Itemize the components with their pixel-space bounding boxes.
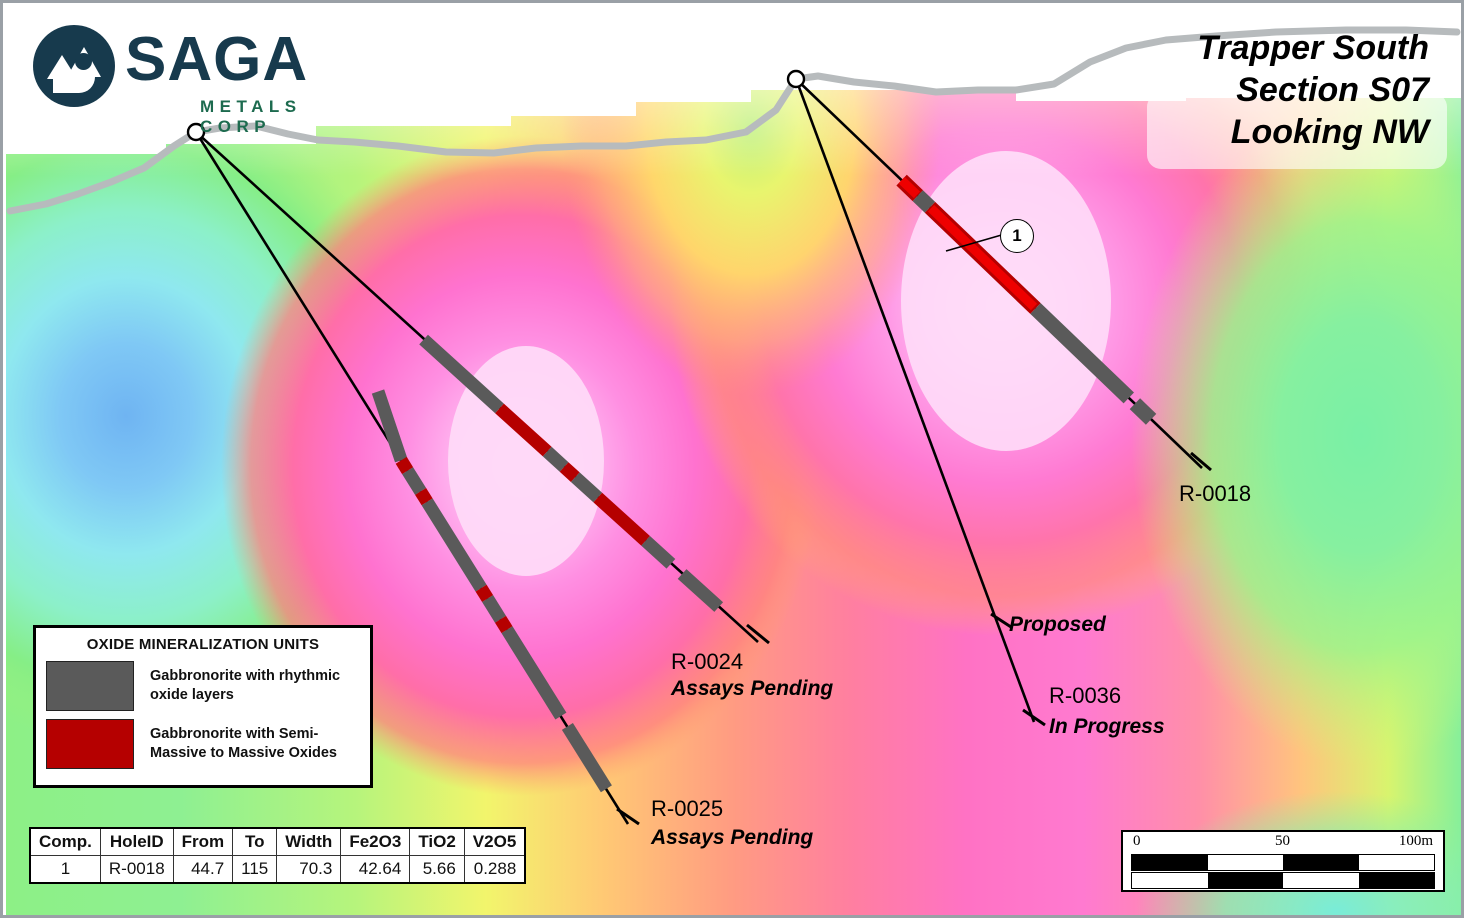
legend-heading: OXIDE MINERALIZATION UNITS bbox=[36, 628, 370, 659]
legend-label-massive: Gabbronorite with Semi-Massive to Massiv… bbox=[150, 725, 362, 763]
scale-bar-row-bottom bbox=[1131, 872, 1435, 889]
annotation-proposed: Proposed bbox=[1009, 613, 1106, 637]
table-header-fe2o3: Fe2O3 bbox=[341, 828, 410, 856]
table-header-row: Comp.HoleIDFromToWidthFe2O3TiO2V2O5 bbox=[30, 828, 525, 856]
collar-east bbox=[788, 71, 804, 87]
scale-tick-0: 0 bbox=[1133, 833, 1141, 850]
table-cell: 5.66 bbox=[410, 856, 464, 884]
title-line-1: Trapper South bbox=[1099, 27, 1429, 69]
table-cell: 42.64 bbox=[341, 856, 410, 884]
hole-label-R-0025: R-0025 bbox=[651, 796, 723, 822]
table-cell: 44.7 bbox=[173, 856, 233, 884]
title-line-2: Section S07 bbox=[1099, 69, 1429, 111]
hole-label-R-0018: R-0018 bbox=[1179, 481, 1251, 507]
hole-status-R-0036: In Progress bbox=[1049, 715, 1165, 739]
table-cell: R-0018 bbox=[100, 856, 173, 884]
table-body: 1R-001844.711570.342.645.660.288 bbox=[30, 856, 525, 884]
page-title: Trapper South Section S07 Looking NW bbox=[1099, 27, 1429, 153]
saga-mark-icon bbox=[33, 25, 115, 107]
company-name: SAGA bbox=[125, 29, 308, 91]
table-header-to: To bbox=[233, 828, 277, 856]
cross-section-figure: 1 SAGA METALS CORP Trapper South Section… bbox=[0, 0, 1464, 918]
scale-tick-50: 50 bbox=[1275, 833, 1290, 850]
table-cell: 1 bbox=[30, 856, 100, 884]
title-line-3: Looking NW bbox=[1099, 111, 1429, 153]
hole-label-R-0024: R-0024 bbox=[671, 649, 743, 675]
legend-item-massive: Gabbronorite with Semi-Massive to Massiv… bbox=[36, 717, 370, 775]
scale-bar-row-top bbox=[1131, 854, 1435, 871]
legend-label-rhythmic: Gabbronorite with rhythmic oxide layers bbox=[150, 667, 362, 705]
table-header-holeid: HoleID bbox=[100, 828, 173, 856]
assay-table: Comp.HoleIDFromToWidthFe2O3TiO2V2O5 1R-0… bbox=[29, 827, 526, 884]
scale-bar: 0 50 100m bbox=[1121, 830, 1445, 892]
table-cell: 115 bbox=[233, 856, 277, 884]
table-header-tio2: TiO2 bbox=[410, 828, 464, 856]
scale-bar-labels: 0 50 100m bbox=[1123, 832, 1443, 854]
hole-status-R-0024: Assays Pending bbox=[671, 677, 833, 701]
table-header-v2o5: V2O5 bbox=[464, 828, 525, 856]
table-cell: 0.288 bbox=[464, 856, 525, 884]
hole-label-R-0036: R-0036 bbox=[1049, 683, 1121, 709]
table-row: 1R-001844.711570.342.645.660.288 bbox=[30, 856, 525, 884]
legend-swatch-rhythmic bbox=[46, 661, 134, 711]
table-header-from: From bbox=[173, 828, 233, 856]
legend-swatch-massive bbox=[46, 719, 134, 769]
scale-tick-100: 100m bbox=[1399, 833, 1433, 850]
table-header-comp: Comp. bbox=[30, 828, 100, 856]
legend-panel: OXIDE MINERALIZATION UNITS Gabbronorite … bbox=[33, 625, 373, 788]
legend-item-rhythmic: Gabbronorite with rhythmic oxide layers bbox=[36, 659, 370, 717]
company-tagline: METALS CORP bbox=[200, 97, 355, 137]
table-header-width: Width bbox=[277, 828, 341, 856]
hole-status-R-0025: Assays Pending bbox=[651, 826, 813, 850]
intercept-callout-1: 1 bbox=[1000, 219, 1034, 253]
table-cell: 70.3 bbox=[277, 856, 341, 884]
company-logo: SAGA METALS CORP bbox=[25, 21, 355, 119]
callout-number: 1 bbox=[1012, 226, 1021, 246]
